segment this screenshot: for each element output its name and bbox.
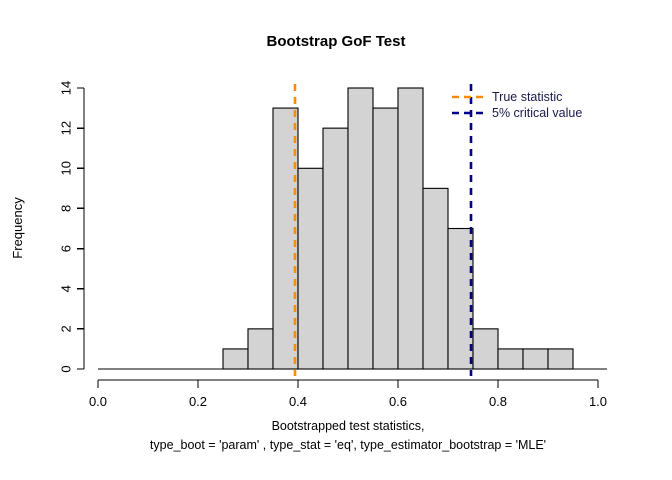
x-axis-title-line1: Bootstrapped test statistics, <box>272 419 425 433</box>
histogram-bar <box>323 128 348 369</box>
y-axis-title: Frequency <box>10 197 25 259</box>
legend-label: 5% critical value <box>492 106 582 120</box>
histogram-bar <box>273 108 298 369</box>
y-tick-label: 14 <box>59 81 74 95</box>
histogram-bar <box>373 108 398 369</box>
histogram-bar <box>473 329 498 369</box>
y-tick-label: 4 <box>59 285 74 292</box>
y-tick-label: 10 <box>59 161 74 175</box>
x-tick-label: 0.0 <box>89 394 107 409</box>
x-tick-label: 0.4 <box>289 394 307 409</box>
histogram-bar <box>523 349 548 369</box>
page-title: Bootstrap GoF Test <box>267 33 406 50</box>
histogram-bar <box>448 229 473 370</box>
y-tick-label: 0 <box>59 365 74 372</box>
legend-label: True statistic <box>492 90 562 104</box>
y-tick-label: 12 <box>59 121 74 135</box>
histogram-bar <box>348 88 373 369</box>
y-tick-label: 2 <box>59 325 74 332</box>
y-tick-label: 6 <box>59 245 74 252</box>
x-tick-label: 0.8 <box>489 394 507 409</box>
histogram-bar <box>398 88 423 369</box>
histogram-bar <box>423 188 448 369</box>
histogram-bar <box>548 349 573 369</box>
x-tick-label: 1.0 <box>589 394 607 409</box>
histogram-bar <box>498 349 523 369</box>
histogram-bar <box>223 349 248 369</box>
histogram-bar <box>298 168 323 369</box>
x-tick-label: 0.6 <box>389 394 407 409</box>
histogram-bar <box>248 329 273 369</box>
x-axis-title-line2: type_boot = 'param' , type_stat = 'eq', … <box>150 438 546 452</box>
plot-canvas: Bootstrap GoF Test 02468101214 Frequency… <box>0 0 672 480</box>
x-tick-label: 0.2 <box>189 394 207 409</box>
bootstrap-gof-histogram: Bootstrap GoF Test 02468101214 Frequency… <box>0 0 672 480</box>
y-tick-label: 8 <box>59 205 74 212</box>
